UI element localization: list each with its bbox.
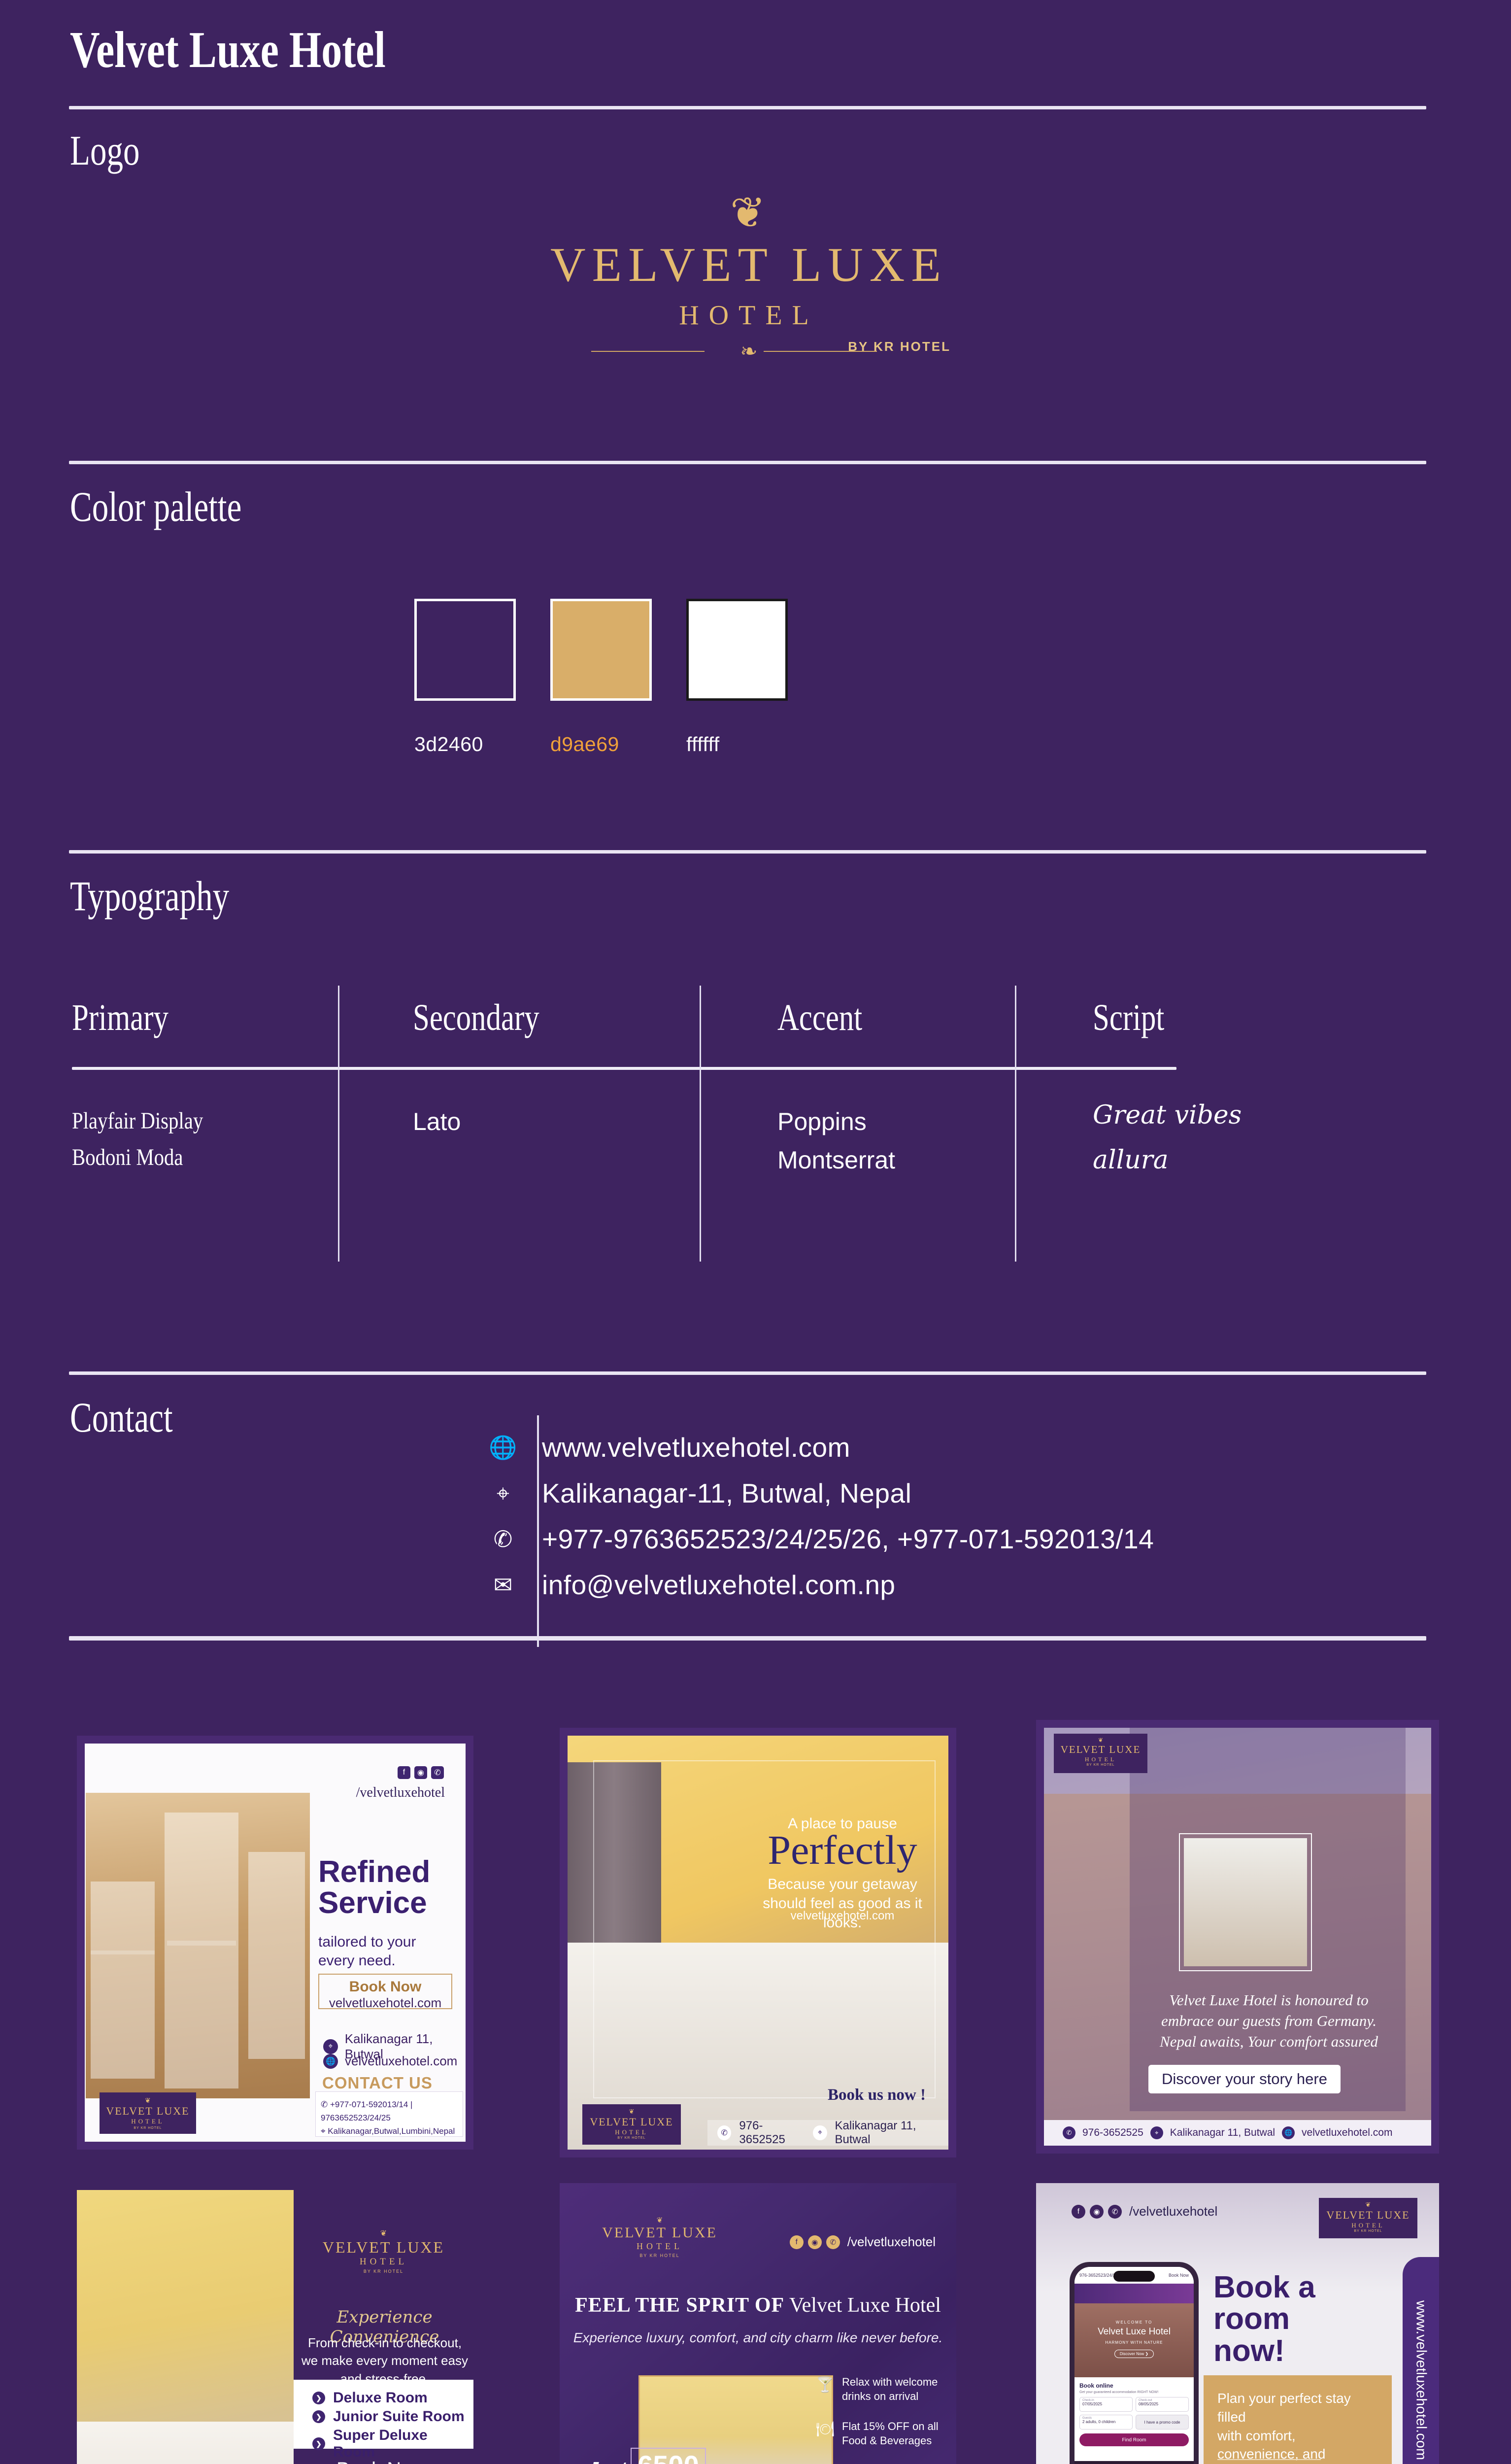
card4-room-item-junior-suite[interactable]: ❯ Junior Suite Room bbox=[312, 2408, 465, 2425]
card5-logo-sub: HOTEL bbox=[588, 2241, 731, 2252]
type-column-head-secondary: Secondary bbox=[413, 996, 539, 1039]
type-column-head-script: Script bbox=[1093, 996, 1164, 1039]
typography-col-divider-2 bbox=[700, 986, 701, 1262]
logo-center-ornament-icon: ❧ bbox=[740, 339, 757, 363]
contact-email: info@velvetluxehotel.com.np bbox=[542, 1569, 896, 1601]
type-column-value-script: Great vibes allura bbox=[1093, 1093, 1242, 1183]
card5-logo-name: VELVET LUXE bbox=[588, 2224, 731, 2241]
gallery-divider bbox=[69, 1636, 1426, 1641]
card4-logo: ❦ VELVET LUXE HOTEL BY KR HOTEL bbox=[308, 2228, 459, 2274]
card6-promo-field[interactable]: I have a promo code bbox=[1136, 2415, 1189, 2430]
logo-subword: HOTEL bbox=[503, 300, 995, 331]
page-title: Velvet Luxe Hotel bbox=[70, 20, 386, 79]
card6-phone-navbar[interactable] bbox=[1074, 2284, 1194, 2303]
card6-phone-notch bbox=[1113, 2271, 1155, 2282]
typography-col-divider-1 bbox=[338, 986, 339, 1262]
card5-headline: FEEL THE SPRIT OF Velvet Luxe Hotel bbox=[560, 2293, 956, 2317]
card6-checkin-field[interactable]: Check-in 07/05/2025 bbox=[1079, 2397, 1133, 2412]
card6-hero-sub: HARMONY WITH NATURE bbox=[1074, 2340, 1194, 2345]
card6-phone-screen: 976-3652523/24/25 Book Now WELCOME TO Ve… bbox=[1074, 2267, 1194, 2464]
card5-perk-fnb: 🍽 Flat 15% OFF on all Food & Beverages bbox=[815, 2420, 939, 2448]
card6-checkout-value: 08/05/2025 bbox=[1139, 2402, 1186, 2406]
card4-room-item-super-deluxe[interactable]: ❯ Super Deluxe Room bbox=[312, 2427, 473, 2461]
section-heading-logo: Logo bbox=[70, 126, 140, 175]
header-divider bbox=[69, 106, 1426, 109]
logo-wordmark: VELVET LUXE bbox=[503, 237, 995, 293]
card5-logo: ❦ VELVET LUXE HOTEL BY KR HOTEL bbox=[588, 2216, 731, 2258]
swatch-label-white: ffffff bbox=[686, 733, 720, 756]
food-icon: 🍽 bbox=[815, 2420, 835, 2439]
card6-vertical-url: www.velvetluxehotel.com bbox=[1413, 2300, 1429, 2460]
social-card-experience-convenience[interactable]: ❦ VELVET LUXE HOTEL BY KR HOTEL Experien… bbox=[77, 2190, 473, 2464]
card6-phone-hero: WELCOME TO Velvet Luxe Hotel HARMONY WIT… bbox=[1074, 2303, 1194, 2377]
contact-website: www.velvetluxehotel.com bbox=[542, 1432, 850, 1463]
facebook-icon[interactable]: f bbox=[1072, 2205, 1085, 2219]
card6-logo-name: VELVET LUXE bbox=[1319, 2209, 1417, 2222]
card5-just-label: Just bbox=[588, 2459, 627, 2464]
card4-room-label-0: Deluxe Room bbox=[333, 2390, 428, 2406]
card5-tagline: Experience luxury, comfort, and city cha… bbox=[560, 2330, 956, 2346]
typography-header-rule bbox=[72, 1067, 1176, 1070]
whatsapp-icon[interactable]: ✆ bbox=[826, 2235, 840, 2249]
card6-logo: ❦ VELVET LUXE HOTEL BY KR HOTEL bbox=[1319, 2198, 1417, 2238]
instagram-icon[interactable]: ◉ bbox=[808, 2235, 822, 2249]
typography-col-divider-3 bbox=[1015, 986, 1016, 1262]
card6-guests-value: 2 adults, 0 children bbox=[1082, 2420, 1130, 2424]
card2-border bbox=[560, 1728, 956, 2157]
swatch-primary-purple bbox=[414, 599, 516, 701]
card5-perk-text-1: Flat 15% OFF on all Food & Beverages bbox=[842, 2420, 939, 2448]
card6-phone-mockup: 976-3652523/24/25 Book Now WELCOME TO Ve… bbox=[1070, 2262, 1199, 2464]
card5-social-icons[interactable]: f ◉ ✆ /velvetluxehotel bbox=[790, 2234, 936, 2250]
swatch-accent-gold bbox=[550, 599, 652, 701]
card6-vertical-url-strip: www.velvetluxehotel.com bbox=[1403, 2257, 1439, 2464]
logo-flourish-icon: ❦ bbox=[503, 197, 995, 229]
section-heading-typography: Typography bbox=[70, 871, 229, 921]
globe-icon: 🌐 bbox=[488, 1436, 518, 1459]
contact-row-website[interactable]: 🌐 www.velvetluxehotel.com bbox=[488, 1432, 850, 1463]
location-pin-icon: ⌖ bbox=[488, 1482, 518, 1505]
card6-divider bbox=[1217, 2459, 1321, 2460]
contact-row-email[interactable]: ✉ info@velvetluxehotel.com.np bbox=[488, 1569, 896, 1601]
card6-hero-discover-button[interactable]: Discover Now ❯ bbox=[1114, 2350, 1154, 2358]
card6-find-room-button[interactable]: Find Room bbox=[1079, 2433, 1189, 2446]
swatch-label-purple: 3d2460 bbox=[414, 733, 483, 756]
card4-logo-byline: BY KR HOTEL bbox=[308, 2269, 459, 2274]
card5-headline-strong: FEEL THE SPRIT OF bbox=[575, 2294, 784, 2317]
section-heading-palette: Color palette bbox=[70, 482, 241, 531]
card5-perk-drinks: 🍸 Relax with welcome drinks on arrival bbox=[815, 2375, 939, 2403]
phone-icon: ✆ bbox=[488, 1528, 518, 1550]
card6-phone-status-phone: 976-3652523/24/25 bbox=[1079, 2273, 1118, 2278]
mail-icon: ✉ bbox=[488, 1574, 518, 1596]
card3-border bbox=[1036, 1720, 1439, 2154]
card6-handle: /velvetluxehotel bbox=[1129, 2204, 1217, 2219]
brand-logo: ❦ VELVET LUXE HOTEL ❧ BY KR HOTEL bbox=[503, 197, 995, 362]
card4-room-item-deluxe[interactable]: ❯ Deluxe Room bbox=[312, 2390, 428, 2406]
whatsapp-icon[interactable]: ✆ bbox=[1108, 2205, 1122, 2219]
card5-logo-byline: BY KR HOTEL bbox=[588, 2253, 731, 2258]
card4-room-label-2: Super Deluxe Room bbox=[333, 2427, 473, 2461]
social-card-germany-guests[interactable]: ❦ VELVET LUXE HOTEL BY KR HOTEL Velvet L… bbox=[1036, 1720, 1439, 2154]
card4-room-label-1: Junior Suite Room bbox=[333, 2408, 465, 2425]
logo-footer-rule: ❧ BY KR HOTEL bbox=[503, 342, 995, 362]
card6-hero-title: Velvet Luxe Hotel bbox=[1074, 2327, 1194, 2337]
card6-phone-night-photo bbox=[1074, 2461, 1194, 2464]
cocktail-icon: 🍸 bbox=[815, 2375, 835, 2395]
swatch-white bbox=[686, 599, 788, 701]
card6-form-title: Book online bbox=[1079, 2382, 1189, 2389]
type-column-head-accent: Accent bbox=[777, 996, 862, 1039]
card6-phone-status-book[interactable]: Book Now bbox=[1169, 2273, 1189, 2278]
chevron-right-icon: ❯ bbox=[312, 2437, 325, 2450]
card6-headline: Book a room now! bbox=[1213, 2272, 1391, 2367]
instagram-icon[interactable]: ◉ bbox=[1090, 2205, 1104, 2219]
section-heading-contact: Contact bbox=[70, 1393, 173, 1442]
card5-price-block: Just6500 per night Deluxe room for two, … bbox=[588, 2449, 716, 2464]
swatch-label-gold: d9ae69 bbox=[550, 733, 619, 756]
card6-form-sub: Get your guaranteed accommodation RIGHT … bbox=[1079, 2391, 1189, 2394]
type-column-head-primary: Primary bbox=[72, 996, 168, 1039]
card6-logo-sub: HOTEL bbox=[1319, 2222, 1417, 2229]
contact-row-address: ⌖ Kalikanagar-11, Butwal, Nepal bbox=[488, 1477, 911, 1509]
palette-divider bbox=[69, 461, 1426, 464]
contact-phone: +977-9763652523/24/25/26, +977-071-59201… bbox=[542, 1523, 1154, 1555]
card5-handle: /velvetluxehotel bbox=[847, 2234, 936, 2250]
card4-logo-sub: HOTEL bbox=[308, 2257, 459, 2267]
typography-divider bbox=[69, 850, 1426, 854]
card5-price: 6500 bbox=[631, 2448, 706, 2464]
card6-social-icons[interactable]: f ◉ ✆ /velvetluxehotel bbox=[1072, 2204, 1217, 2219]
facebook-icon[interactable]: f bbox=[790, 2235, 804, 2249]
chevron-right-icon: ❯ bbox=[312, 2392, 325, 2404]
social-card-refined-service[interactable]: f ◉ ✆ /velvetluxehotel Refined Service t… bbox=[77, 1736, 473, 2150]
social-card-perfectly[interactable]: A place to pause Perfectly Because your … bbox=[560, 1728, 956, 2157]
card6-hero-welcome: WELCOME TO bbox=[1074, 2320, 1194, 2325]
card6-checkout-field[interactable]: Check-out 08/05/2025 bbox=[1136, 2397, 1189, 2412]
brand-guidelines-page: Velvet Luxe Hotel Logo ❦ VELVET LUXE HOT… bbox=[0, 0, 1511, 2464]
card6-logo-byline: BY KR HOTEL bbox=[1319, 2229, 1417, 2233]
card4-logo-name: VELVET LUXE bbox=[308, 2238, 459, 2257]
logo-rule-left bbox=[591, 351, 705, 352]
card6-checkin-value: 07/05/2025 bbox=[1082, 2402, 1130, 2406]
contact-row-phone[interactable]: ✆ +977-9763652523/24/25/26, +977-071-592… bbox=[488, 1523, 1154, 1555]
logo-byline: BY KR HOTEL bbox=[848, 339, 951, 354]
type-column-value-accent: Poppins Montserrat bbox=[777, 1103, 895, 1179]
chevron-right-icon: ❯ bbox=[312, 2410, 325, 2423]
social-card-book-a-room[interactable]: f ◉ ✆ /velvetluxehotel ❦ VELVET LUXE HOT… bbox=[1036, 2183, 1439, 2464]
card6-guests-field[interactable]: Guests 2 adults, 0 children bbox=[1079, 2415, 1133, 2430]
card4-book-now-button[interactable]: Book Now bbox=[336, 2459, 426, 2464]
card4-bed bbox=[77, 2422, 294, 2464]
card6-phone-booking-form[interactable]: Book online Get your guaranteed accommod… bbox=[1074, 2377, 1194, 2461]
card1-border bbox=[77, 1736, 473, 2150]
contact-divider bbox=[69, 1371, 1426, 1375]
social-card-summer-offer[interactable]: ❦ VELVET LUXE HOTEL BY KR HOTEL f ◉ ✆ /v… bbox=[560, 2183, 956, 2464]
type-column-value-secondary: Lato bbox=[413, 1103, 461, 1141]
type-column-value-primary: Playfair Display Bodoni Moda bbox=[72, 1103, 203, 1176]
card5-headline-brand: Velvet Luxe Hotel bbox=[789, 2294, 941, 2317]
card6-body: Plan your perfect stay filled with comfo… bbox=[1217, 2389, 1380, 2464]
card5-perk-text-0: Relax with welcome drinks on arrival bbox=[842, 2375, 938, 2403]
contact-address: Kalikanagar-11, Butwal, Nepal bbox=[542, 1477, 911, 1509]
